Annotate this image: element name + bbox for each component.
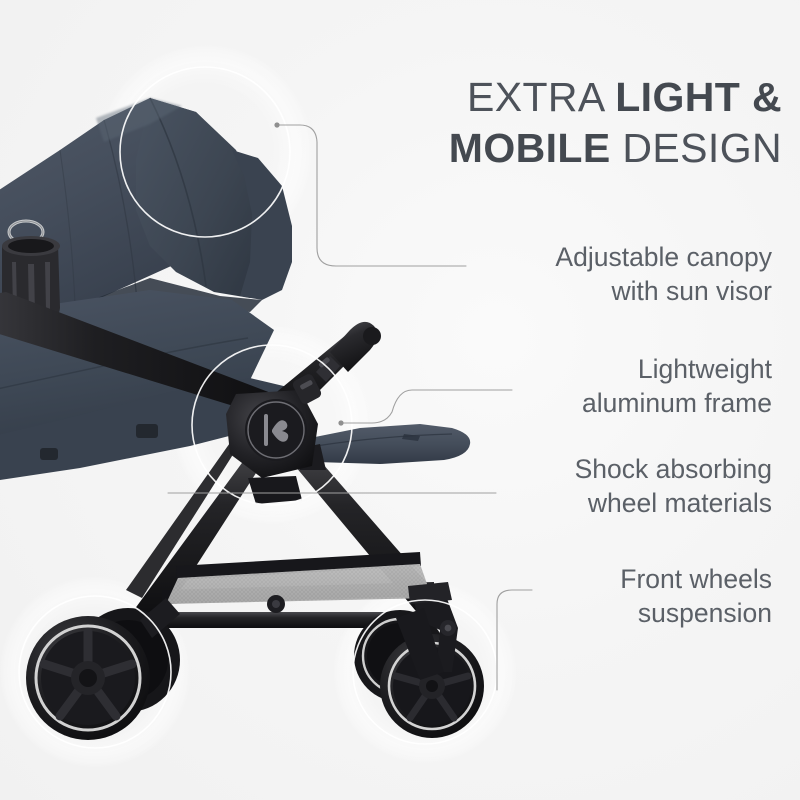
feature-line-2: aluminum frame: [392, 386, 772, 420]
feature-label-shock-absorbing-wheels: Shock absorbing wheel materials: [392, 452, 772, 520]
feature-label-lightweight-frame: Lightweight aluminum frame: [392, 352, 772, 420]
feature-line-1: Lightweight: [392, 352, 772, 386]
feature-line-2: wheel materials: [392, 486, 772, 520]
title-line-2: MOBILE DESIGN: [408, 123, 782, 174]
page-title: EXTRA LIGHT & MOBILE DESIGN: [408, 72, 782, 174]
infographic-canvas: EXTRA LIGHT & MOBILE DESIGN Adjustable c…: [0, 0, 800, 800]
title-extra: EXTRA: [467, 74, 615, 120]
title-line-1: EXTRA LIGHT &: [408, 72, 782, 123]
feature-label-front-wheels-suspension: Front wheels suspension: [392, 562, 772, 630]
feature-line-2: suspension: [392, 596, 772, 630]
feature-line-1: Front wheels: [392, 562, 772, 596]
title-light-and: LIGHT &: [615, 74, 782, 120]
feature-line-1: Shock absorbing: [392, 452, 772, 486]
feature-line-1: Adjustable canopy: [392, 240, 772, 274]
title-mobile: MOBILE: [449, 125, 611, 171]
feature-line-2: with sun visor: [392, 274, 772, 308]
feature-label-adjustable-canopy: Adjustable canopy with sun visor: [392, 240, 772, 308]
title-design: DESIGN: [611, 125, 782, 171]
